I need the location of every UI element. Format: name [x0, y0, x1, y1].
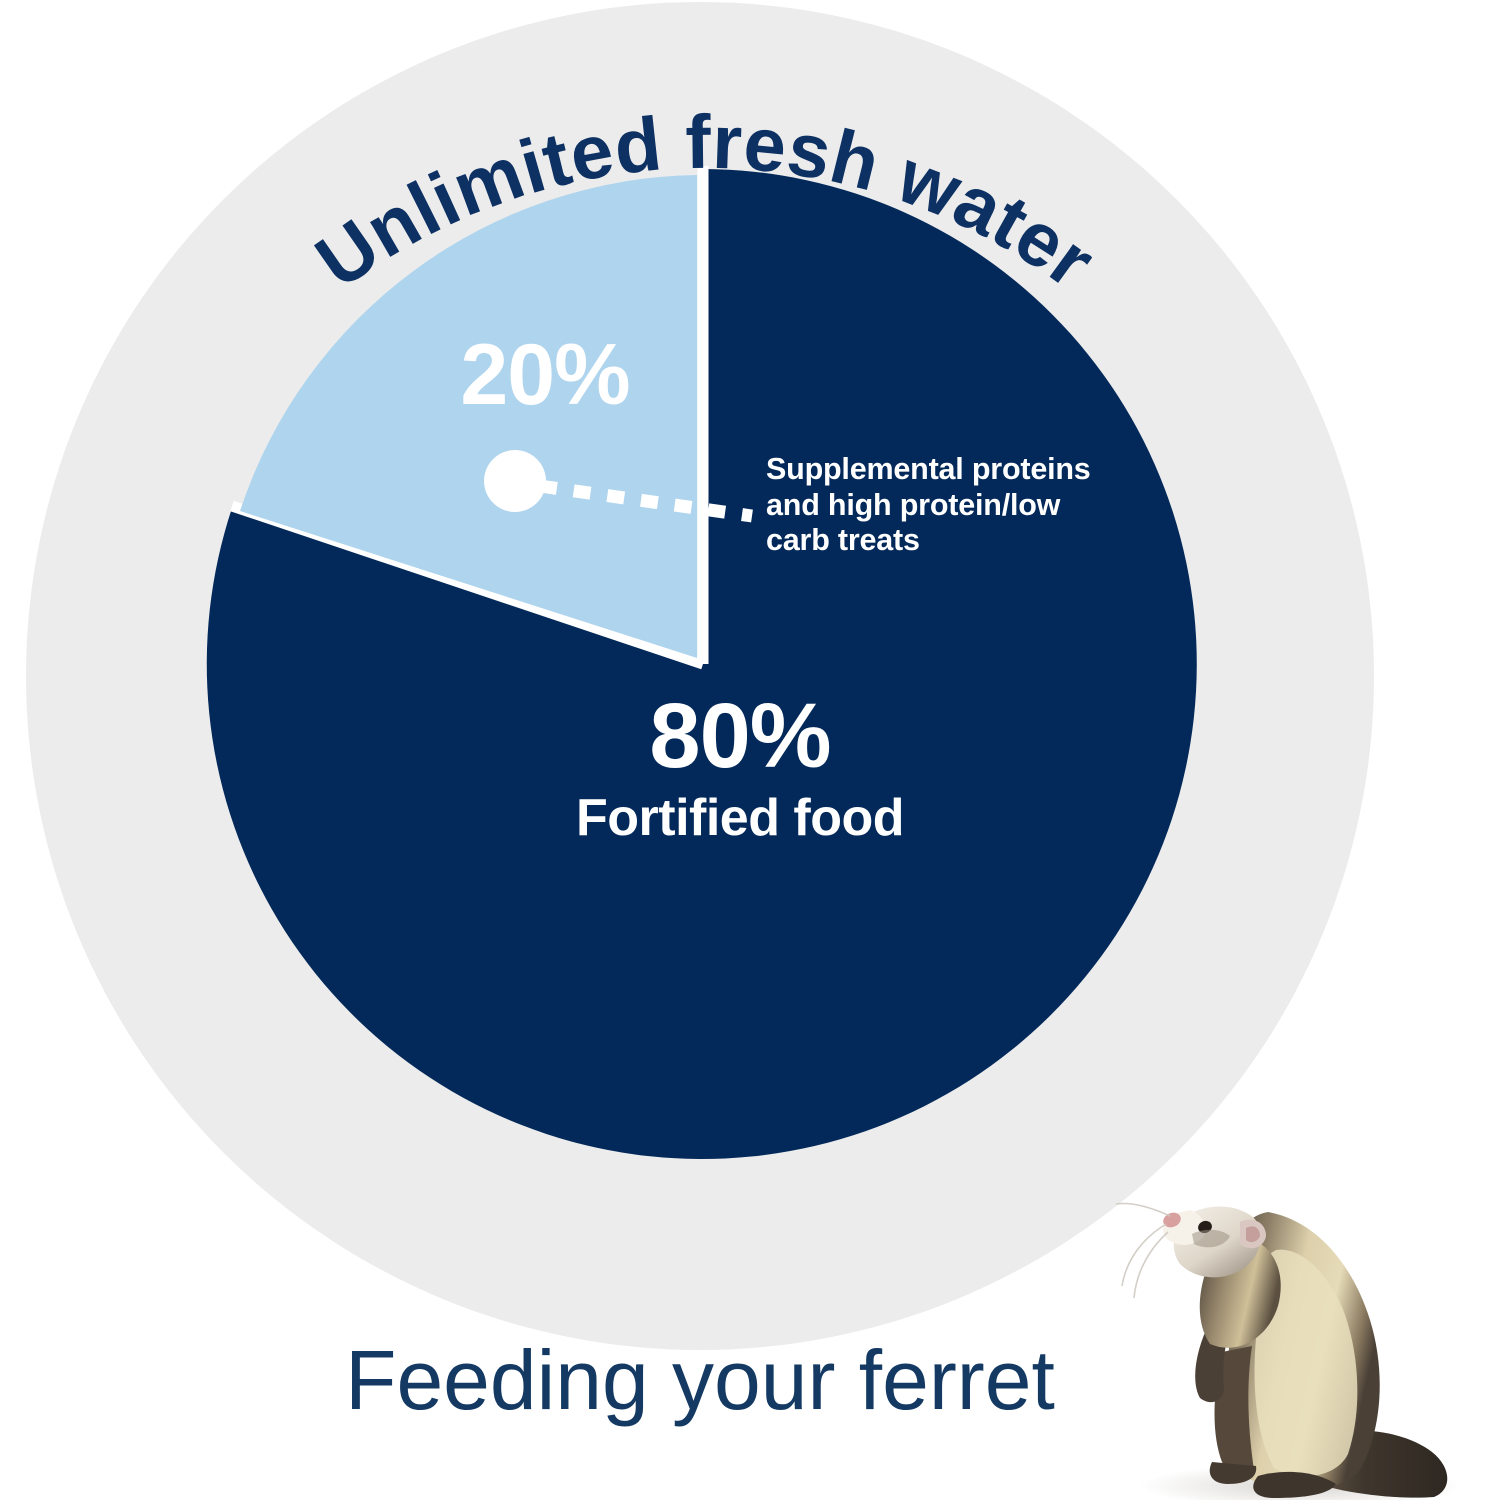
infographic-root: Unlimited fresh water 20% 80% Fortified … — [0, 0, 1500, 1500]
ferret-whiskers — [1116, 1204, 1170, 1299]
ferret-photo — [0, 0, 1500, 1500]
ferret-illustration-group — [1116, 1204, 1460, 1500]
